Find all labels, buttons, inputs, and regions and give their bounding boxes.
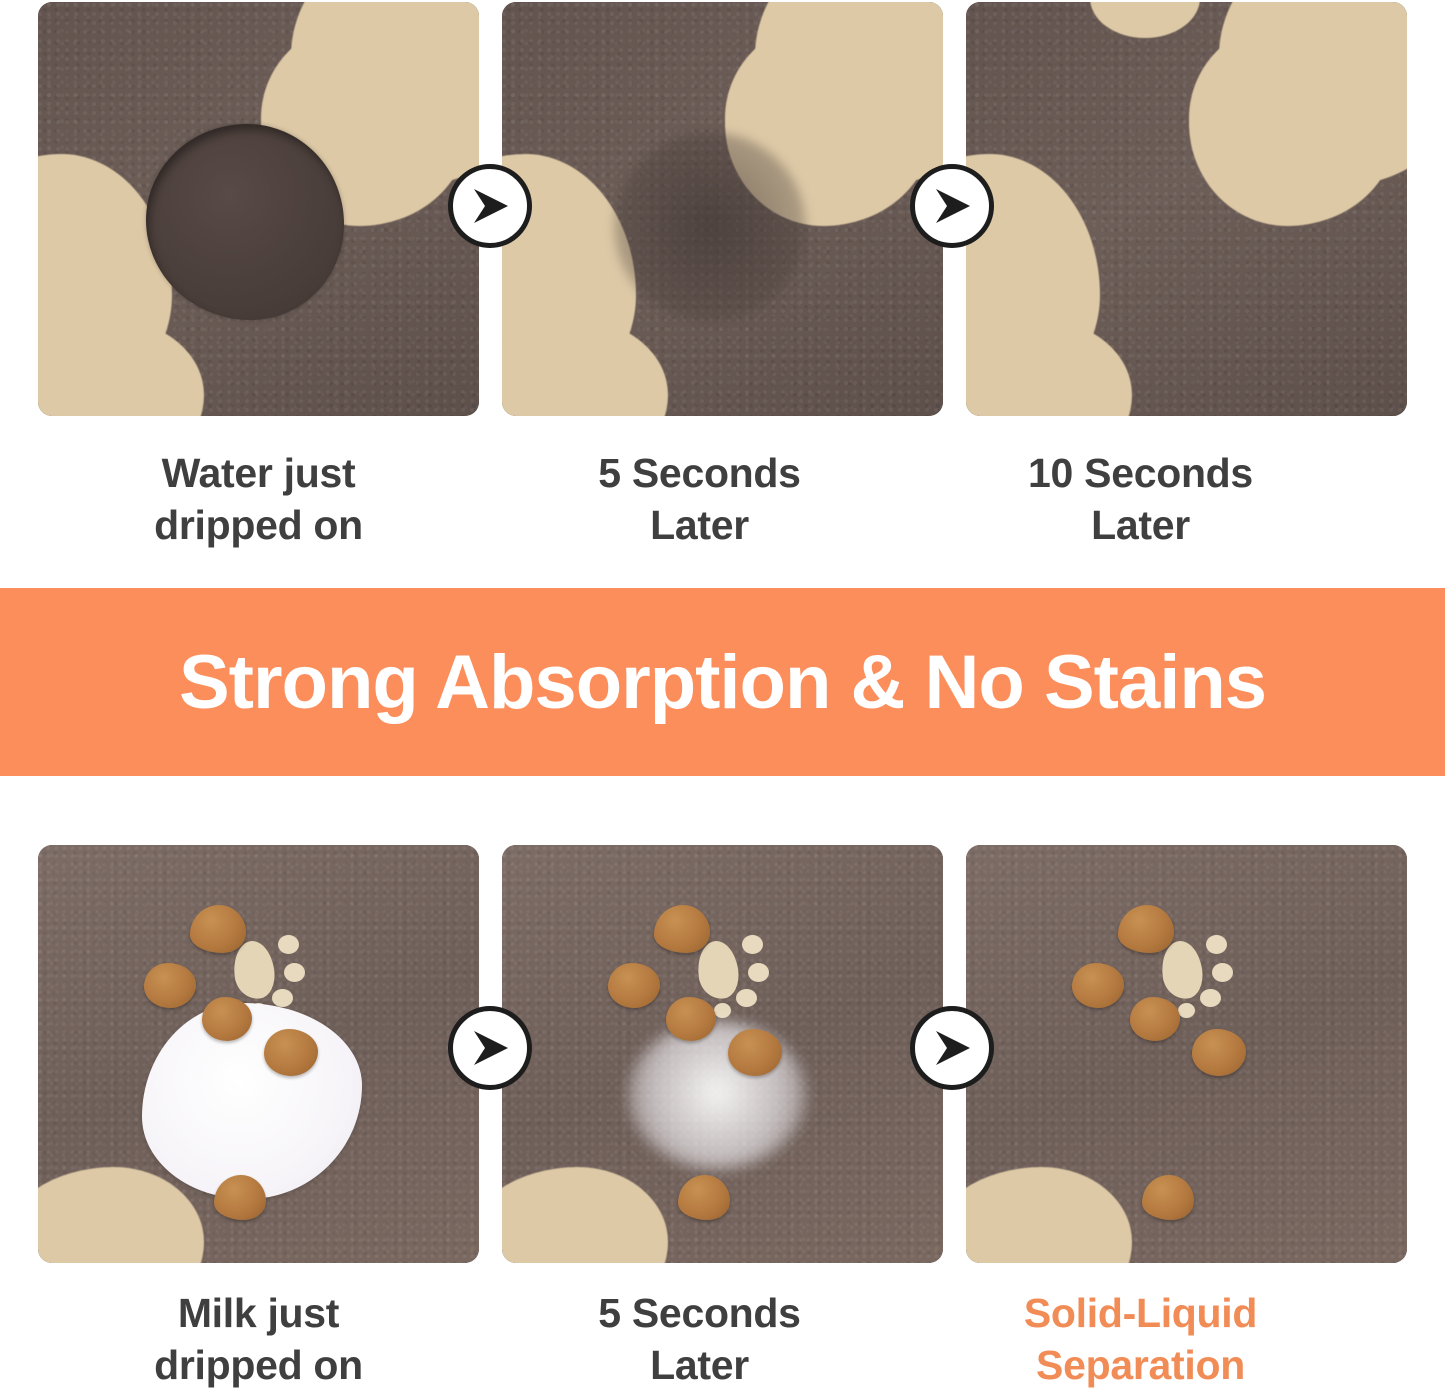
caption-solid-liquid-separation: Solid-Liquid Separation bbox=[920, 1288, 1361, 1391]
caption-line-1: 5 Seconds bbox=[479, 1288, 920, 1340]
kibble-piece bbox=[666, 997, 716, 1041]
caption-line-2: Later bbox=[479, 500, 920, 552]
caption-milk-fresh: Milk just dripped on bbox=[38, 1288, 479, 1391]
kibble-piece bbox=[1192, 1029, 1246, 1076]
arrow-right-icon bbox=[448, 1006, 532, 1090]
paw-toe bbox=[714, 1003, 731, 1018]
panel-milk-fresh bbox=[38, 845, 479, 1263]
top-panel-row bbox=[0, 2, 1445, 416]
headline-text: Strong Absorption & No Stains bbox=[179, 639, 1266, 726]
infographic-stage: Water just dripped on 5 Seconds Later 10… bbox=[0, 0, 1445, 1394]
caption-line-2: dripped on bbox=[38, 500, 479, 552]
caption-line-1: Solid-Liquid bbox=[920, 1288, 1361, 1340]
panel-water-fresh bbox=[38, 2, 479, 416]
arrow-right-icon bbox=[910, 1006, 994, 1090]
caption-water-fresh: Water just dripped on bbox=[38, 448, 479, 551]
caption-line-2: dripped on bbox=[38, 1340, 479, 1392]
headline-banner: Strong Absorption & No Stains bbox=[0, 588, 1445, 776]
top-caption-row: Water just dripped on 5 Seconds Later 10… bbox=[0, 448, 1445, 551]
panel-water-absorbing bbox=[502, 2, 943, 416]
kibble-piece bbox=[678, 1175, 730, 1220]
kibble-piece bbox=[190, 905, 246, 953]
kibble-piece bbox=[728, 1029, 782, 1076]
kibble-piece bbox=[1072, 963, 1124, 1008]
paw-toe bbox=[1212, 963, 1233, 982]
kibble-piece bbox=[1118, 905, 1174, 953]
caption-line-1: 10 Seconds bbox=[920, 448, 1361, 500]
kibble-piece bbox=[1130, 997, 1180, 1041]
arrow-right-icon bbox=[448, 164, 532, 248]
water-puddle bbox=[146, 124, 344, 320]
kibble-piece bbox=[144, 963, 196, 1008]
paw-toe bbox=[736, 989, 757, 1007]
caption-line-2: Later bbox=[920, 500, 1361, 552]
kibble-piece bbox=[608, 963, 660, 1008]
panel-milk-absorbing bbox=[502, 845, 943, 1263]
caption-line-2: Later bbox=[479, 1340, 920, 1392]
kibble-piece bbox=[654, 905, 710, 953]
paw-toe bbox=[742, 935, 763, 954]
bottom-caption-row: Milk just dripped on 5 Seconds Later Sol… bbox=[0, 1288, 1445, 1391]
caption-water-5s: 5 Seconds Later bbox=[479, 448, 920, 551]
caption-line-1: Milk just bbox=[38, 1288, 479, 1340]
paw-toe bbox=[1206, 935, 1227, 954]
caption-line-1: Water just bbox=[38, 448, 479, 500]
caption-milk-5s: 5 Seconds Later bbox=[479, 1288, 920, 1391]
kibble-piece bbox=[264, 1029, 318, 1076]
paw-toe bbox=[278, 935, 299, 954]
kibble-piece bbox=[1142, 1175, 1194, 1220]
paw-toe bbox=[1200, 989, 1221, 1007]
paw-toe bbox=[272, 989, 293, 1007]
panel-water-dry bbox=[966, 2, 1407, 416]
arrow-right-icon bbox=[910, 164, 994, 248]
paw-toe bbox=[748, 963, 769, 982]
panel-milk-dry bbox=[966, 845, 1407, 1263]
caption-water-10s: 10 Seconds Later bbox=[920, 448, 1361, 551]
paw-toe bbox=[284, 963, 305, 982]
caption-line-2: Separation bbox=[920, 1340, 1361, 1392]
kibble-piece bbox=[202, 997, 252, 1041]
caption-line-1: 5 Seconds bbox=[479, 448, 920, 500]
bottom-panel-row bbox=[0, 845, 1445, 1263]
damp-spot bbox=[614, 132, 806, 322]
paw-toe bbox=[1178, 1003, 1195, 1018]
kibble-piece bbox=[214, 1175, 266, 1220]
